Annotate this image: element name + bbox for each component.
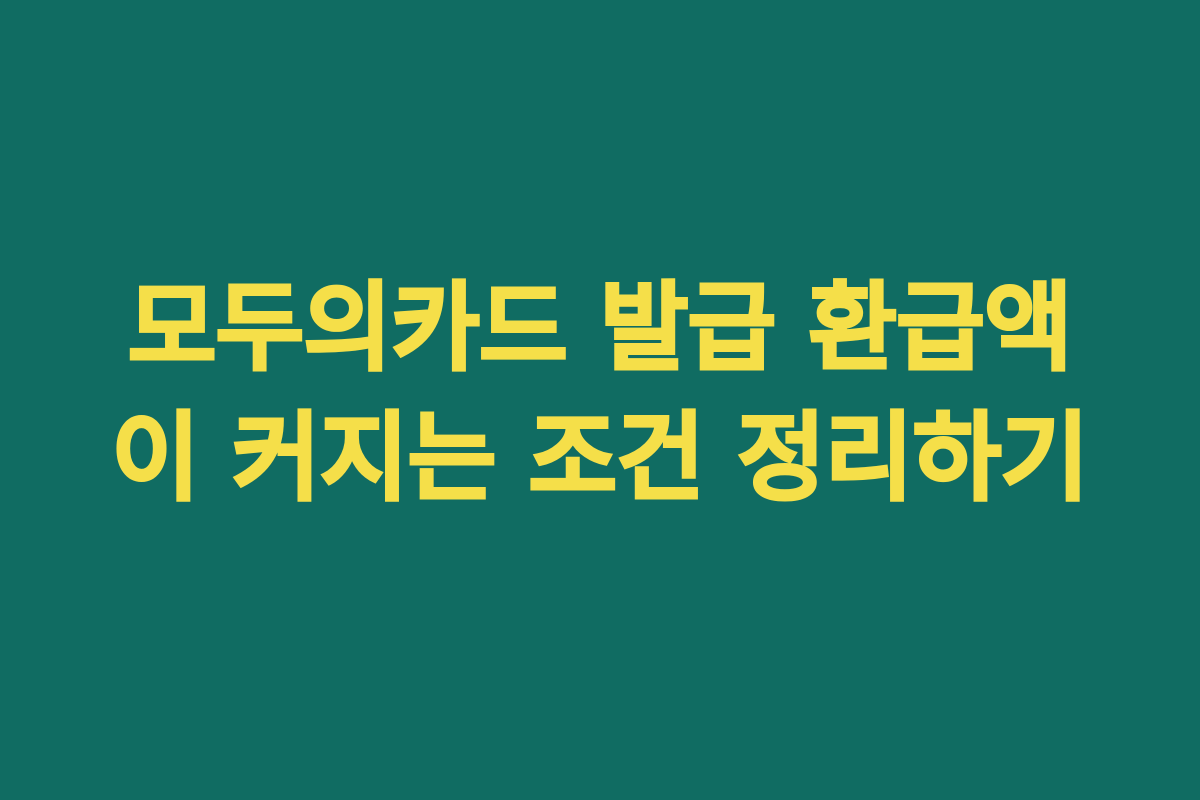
thumbnail-canvas: 모두의카드 발급 환급액 이 커지는 조건 정리하기 xyxy=(0,0,1200,800)
headline-line-2: 이 커지는 조건 정리하기 xyxy=(80,395,1120,523)
headline-line-1: 모두의카드 발급 환급액 xyxy=(80,265,1120,393)
headline-block: 모두의카드 발급 환급액 이 커지는 조건 정리하기 xyxy=(80,265,1120,522)
